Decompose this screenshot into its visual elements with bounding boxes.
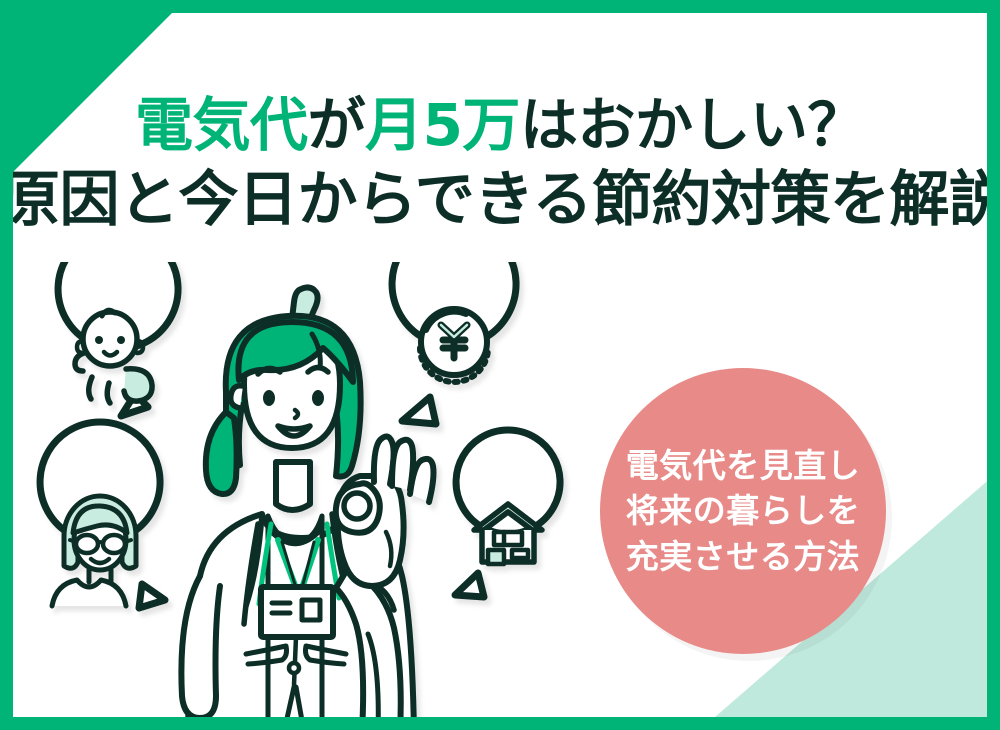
status-badge: 電気代を見直し 将来の暮らしを 充実させる方法 xyxy=(600,368,886,654)
title-seg-denkidai: 電気代 xyxy=(135,91,308,159)
page-title: 電気代が月5万はおかしい？ 原因と今日からできる節約対策を解説 xyxy=(0,96,1000,230)
yen-coin-icon xyxy=(420,309,488,382)
baby-bubble xyxy=(58,262,178,416)
id-card xyxy=(261,587,333,637)
title-seg-okashii: はおかしい？ xyxy=(520,91,865,159)
title-line-2: 原因と今日からできる節約対策を解説 xyxy=(0,170,1000,230)
title-seg-ga: が xyxy=(308,91,366,159)
yen-bubble xyxy=(392,262,516,424)
badge-line-3: 充実させる方法 xyxy=(626,534,861,580)
woman-consultant xyxy=(181,316,433,730)
badge-line-2: 将来の暮らしを xyxy=(626,488,861,534)
title-seg-tsuki5man: 月5万 xyxy=(365,91,520,159)
title-line-1: 電気代が月5万はおかしい？ xyxy=(0,96,1000,154)
badge-line-1: 電気代を見直し xyxy=(626,443,861,489)
house-bubble xyxy=(455,430,560,597)
eyecatch-banner: 電気代が月5万はおかしい？ 原因と今日からできる節約対策を解説 電気代を見直し … xyxy=(0,0,1000,730)
senior-bubble xyxy=(40,422,165,608)
illustration xyxy=(30,262,610,730)
